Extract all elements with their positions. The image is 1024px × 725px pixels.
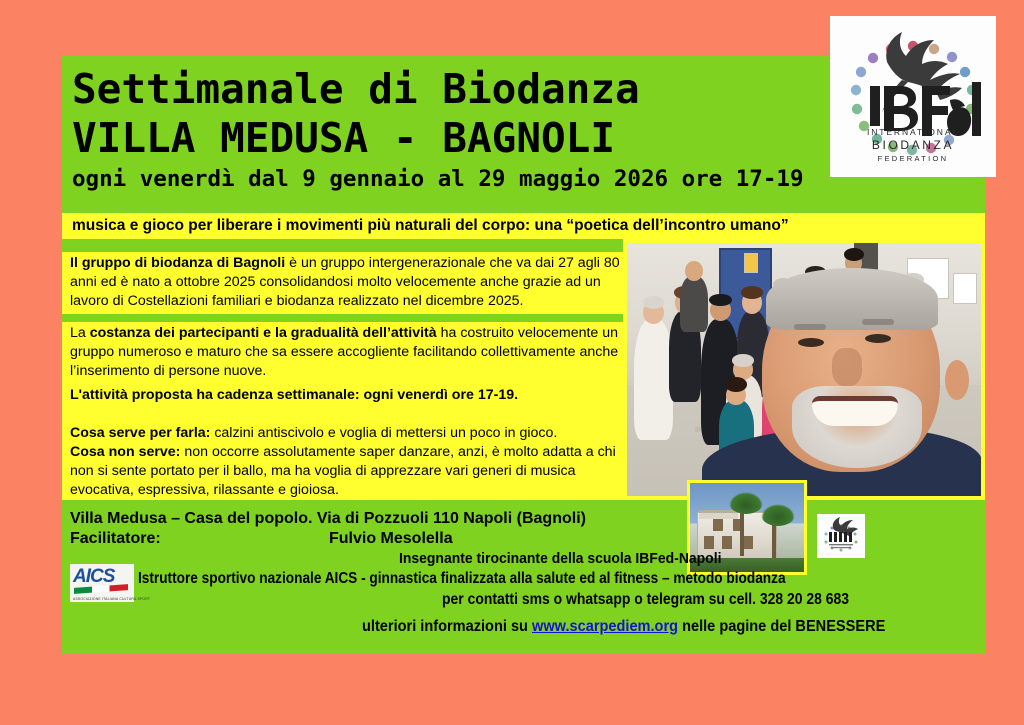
- face-smile-mouth: [812, 396, 898, 426]
- face-eye-left: [798, 338, 824, 347]
- ibfed-logo-small: [817, 514, 865, 558]
- person-hair: [643, 296, 664, 309]
- ibfed-logo-large: INTERNATIONAL BIODANZA FEDERATION: [830, 16, 996, 177]
- paragraph-4: Cosa serve per farla: calzini antiscivol…: [70, 424, 632, 443]
- paragraph-1-lead: Il gruppo di biodanza di Bagnoli: [70, 255, 285, 271]
- facilitator-name: Fulvio Mesolella: [329, 530, 453, 548]
- face-brow-right: [862, 319, 894, 325]
- subtitle-text: musica e gioco per liberare i movimenti …: [62, 217, 789, 235]
- paragraph-5: Cosa non serve: non occorre assolutament…: [70, 443, 632, 500]
- paragraph-2-pre: La: [70, 325, 90, 341]
- villa-window: [704, 536, 714, 548]
- paragraph-3: L'attività proposta ha cadenza settimana…: [70, 386, 632, 405]
- venue-address: Villa Medusa – Casa del popolo. Via di P…: [70, 510, 586, 528]
- person-standing: [634, 319, 673, 440]
- ibfed-line-biodanza: BIODANZA: [872, 138, 954, 152]
- paragraph-4-bold: Cosa serve per farla:: [70, 425, 210, 441]
- paragraph-2-bold: costanza dei partecipanti e la gradualit…: [90, 325, 437, 341]
- more-info-suffix: nelle pagine del BENESSERE: [678, 618, 885, 635]
- foreground-face-selfie: [732, 268, 981, 496]
- face-ear: [945, 360, 969, 400]
- more-info-line: ulteriori informazioni su www.scarpediem…: [362, 618, 885, 636]
- facilitator-label: Facilitatore:: [70, 530, 161, 548]
- website-link[interactable]: www.scarpediem.org: [532, 618, 678, 635]
- person-standing: [680, 276, 708, 332]
- person-head: [685, 261, 703, 281]
- aics-logo: AICS ASSOCIAZIONE ITALIANA CULTURA SPORT: [70, 564, 134, 602]
- paragraph-3-bold: L'attività proposta ha cadenza settimana…: [70, 387, 518, 403]
- villa-roof-terrace: [699, 510, 738, 519]
- paragraph-4-rest: calzini antiscivolo e voglia di mettersi…: [210, 425, 557, 441]
- group-photo-frame: [623, 239, 985, 500]
- ibfed-logo-svg: INTERNATIONAL BIODANZA FEDERATION: [830, 16, 996, 177]
- ibfed-line-international: INTERNATIONAL: [867, 127, 959, 137]
- person-hair: [844, 248, 864, 261]
- face-brow-left: [794, 324, 826, 330]
- ibfed-line-federation: FEDERATION: [878, 154, 949, 163]
- face-nose: [832, 348, 862, 386]
- teacher-credential: Insegnante tirocinante della scuola IBFe…: [399, 550, 721, 567]
- villa-window: [713, 519, 723, 531]
- face-hair: [766, 268, 938, 330]
- contact-phone-line: per contatti sms o whatsapp o telegram s…: [442, 591, 849, 609]
- face-eye-right: [865, 334, 891, 343]
- palm-fronds: [761, 504, 795, 526]
- subtitle-banner: musica e gioco per liberare i movimenti …: [62, 213, 985, 239]
- paragraph-5-bold: Cosa non serve:: [70, 444, 180, 460]
- more-info-prefix: ulteriori informazioni su: [362, 618, 532, 635]
- group-selfie-photo: [627, 243, 981, 496]
- paragraph-1: Il gruppo di biodanza di Bagnoli è un gr…: [70, 254, 632, 311]
- aics-credential: Istruttore sportivo nazionale AICS - gin…: [138, 570, 786, 588]
- palm-fronds: [729, 492, 763, 514]
- paragraph-2: La costanza dei partecipanti e la gradua…: [70, 324, 632, 381]
- poster-canvas: Settimanale di Biodanza VILLA MEDUSA - B…: [62, 56, 985, 654]
- aics-subtitle: ASSOCIAZIONE ITALIANA CULTURA SPORT: [73, 597, 150, 601]
- ibfed-logo-small-svg: [817, 514, 865, 558]
- villa-window: [722, 536, 732, 548]
